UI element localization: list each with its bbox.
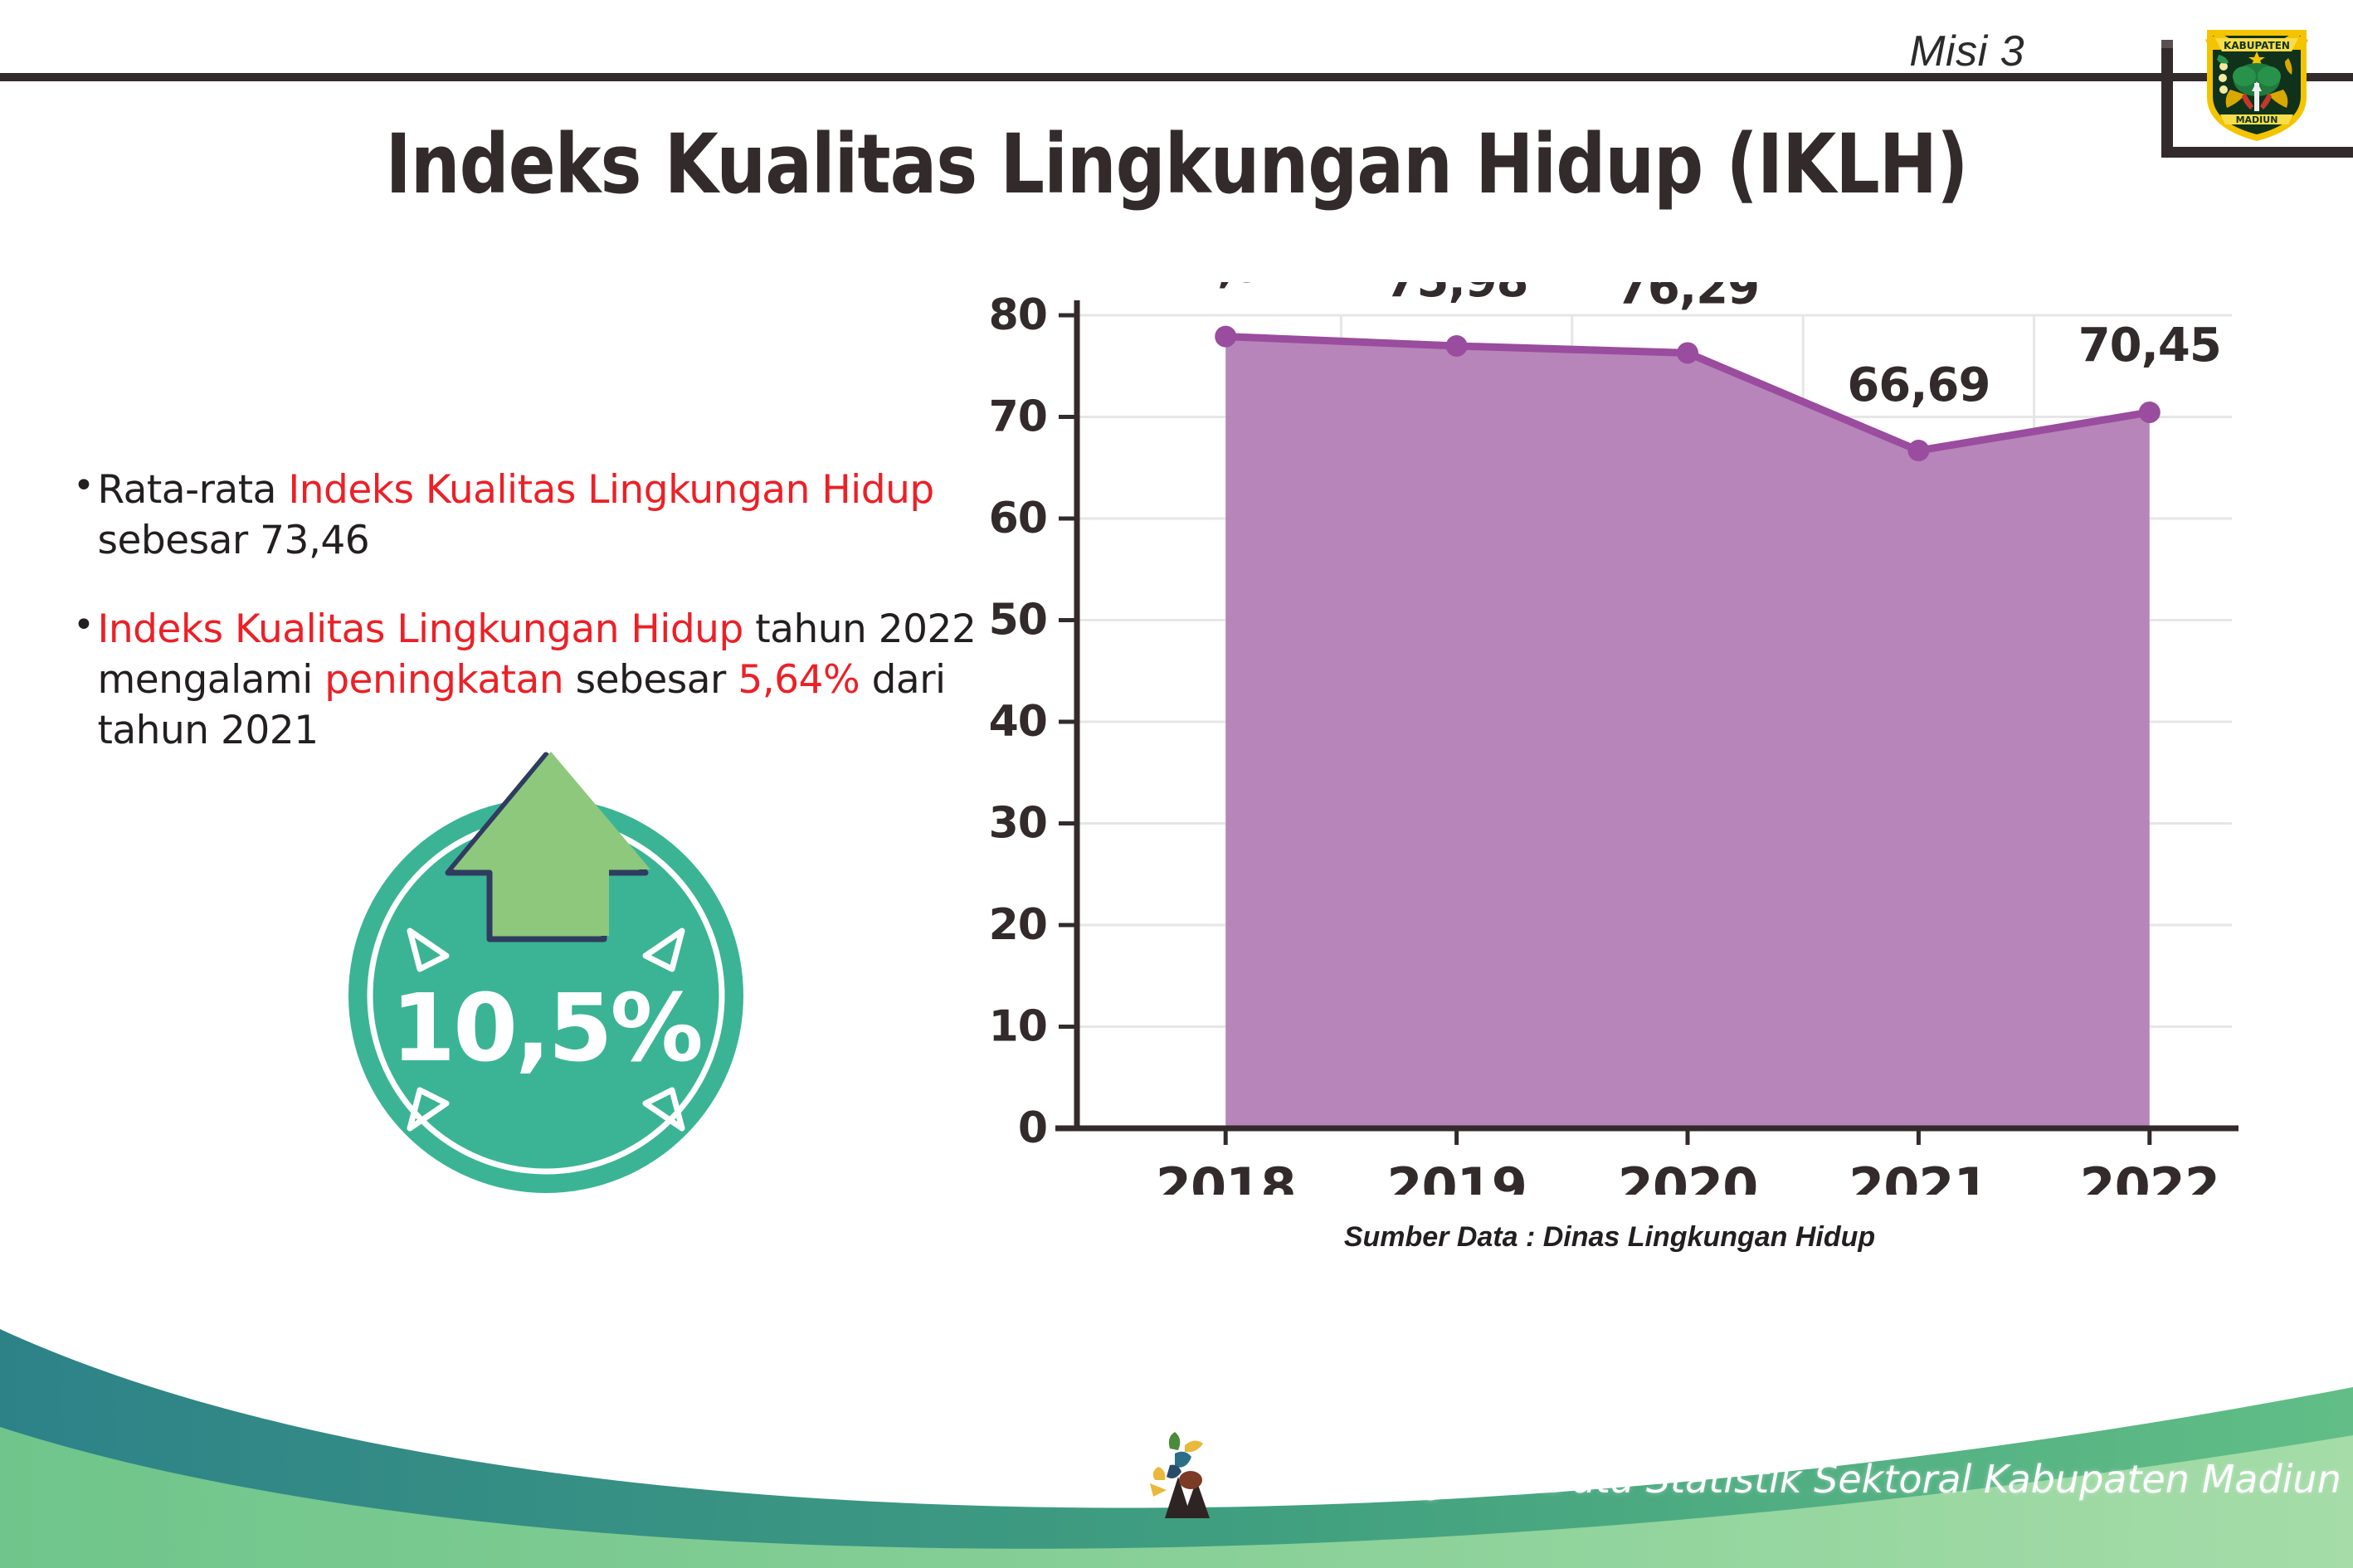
svg-text:60: 60: [989, 494, 1047, 543]
svg-text:77,91: 77,91: [1154, 282, 1297, 294]
statistik-dancer-logo-icon: [1145, 1429, 1225, 1520]
bullet-text-part: sebesar: [563, 657, 738, 703]
chart-source-note: Sumber Data : Dinas Lingkungan Hidup: [1070, 1221, 2149, 1254]
svg-text:50: 50: [989, 596, 1047, 645]
badge-value: 10,5%: [330, 975, 762, 1083]
list-item: • Indeks Kualitas Lingkungan Hidup tahun…: [73, 604, 994, 756]
svg-text:0: 0: [1018, 1103, 1047, 1153]
svg-text:KABUPATEN: KABUPATEN: [2224, 40, 2290, 51]
bullet-text-part: Rata-rata: [97, 467, 288, 513]
bullet-text-part-highlight: Indeks Kualitas Lingkungan Hidup: [288, 467, 933, 513]
svg-text:2019: 2019: [1386, 1157, 1527, 1195]
bullet-text-part-highlight: Indeks Kualitas Lingkungan Hidup: [97, 606, 743, 652]
svg-text:75,98: 75,98: [1386, 282, 1528, 308]
footer-caption: Media Infografis Data Statistik Sektoral…: [1224, 1457, 2353, 1502]
svg-text:70: 70: [989, 392, 1047, 442]
svg-text:70,45: 70,45: [2078, 319, 2221, 373]
bullet-marker: •: [73, 465, 94, 508]
bullet-text: Rata-rata Indeks Kualitas Lingkungan Hid…: [97, 465, 994, 566]
list-item: • Rata-rata Indeks Kualitas Lingkungan H…: [73, 465, 994, 566]
svg-text:2021: 2021: [1849, 1157, 1989, 1195]
chart-area-fill: [1225, 337, 2150, 1128]
bullet-marker: •: [73, 604, 94, 647]
svg-text:30: 30: [989, 799, 1047, 849]
summary-bullet-list: • Rata-rata Indeks Kualitas Lingkungan H…: [73, 465, 994, 794]
svg-text:20: 20: [989, 900, 1047, 950]
chart-y-axis-labels: 01020304050607080: [989, 290, 1047, 1153]
increase-percentage-badge: [330, 747, 762, 1195]
bullet-text-part-highlight: peningkatan: [324, 657, 563, 703]
iklh-area-chart: 01020304050607080 20182019202020212022 7…: [954, 282, 2248, 1195]
svg-text:40: 40: [989, 697, 1047, 747]
svg-text:2022: 2022: [2080, 1157, 2220, 1195]
slide-canvas: Misi 3 KABUPATEN MADIUN Indeks Kualitas …: [0, 0, 2353, 1568]
svg-text:66,69: 66,69: [1847, 358, 1990, 412]
bullet-text: Indeks Kualitas Lingkungan Hidup tahun 2…: [97, 604, 994, 756]
svg-text:10: 10: [989, 1002, 1047, 1052]
page-title: Indeks Kualitas Lingkungan Hidup (IKLH): [0, 116, 2353, 212]
svg-text:2020: 2020: [1618, 1157, 1758, 1195]
mission-label: Misi 3: [1909, 27, 2024, 76]
bullet-text-part: sebesar 73,46: [97, 518, 369, 563]
bullet-text-part-highlight: 5,64%: [738, 657, 860, 703]
svg-text:2018: 2018: [1156, 1157, 1296, 1195]
svg-text:76,29: 76,29: [1616, 282, 1759, 314]
svg-text:80: 80: [989, 290, 1047, 340]
chart-x-axis-labels: 20182019202020212022: [1156, 1157, 2219, 1195]
